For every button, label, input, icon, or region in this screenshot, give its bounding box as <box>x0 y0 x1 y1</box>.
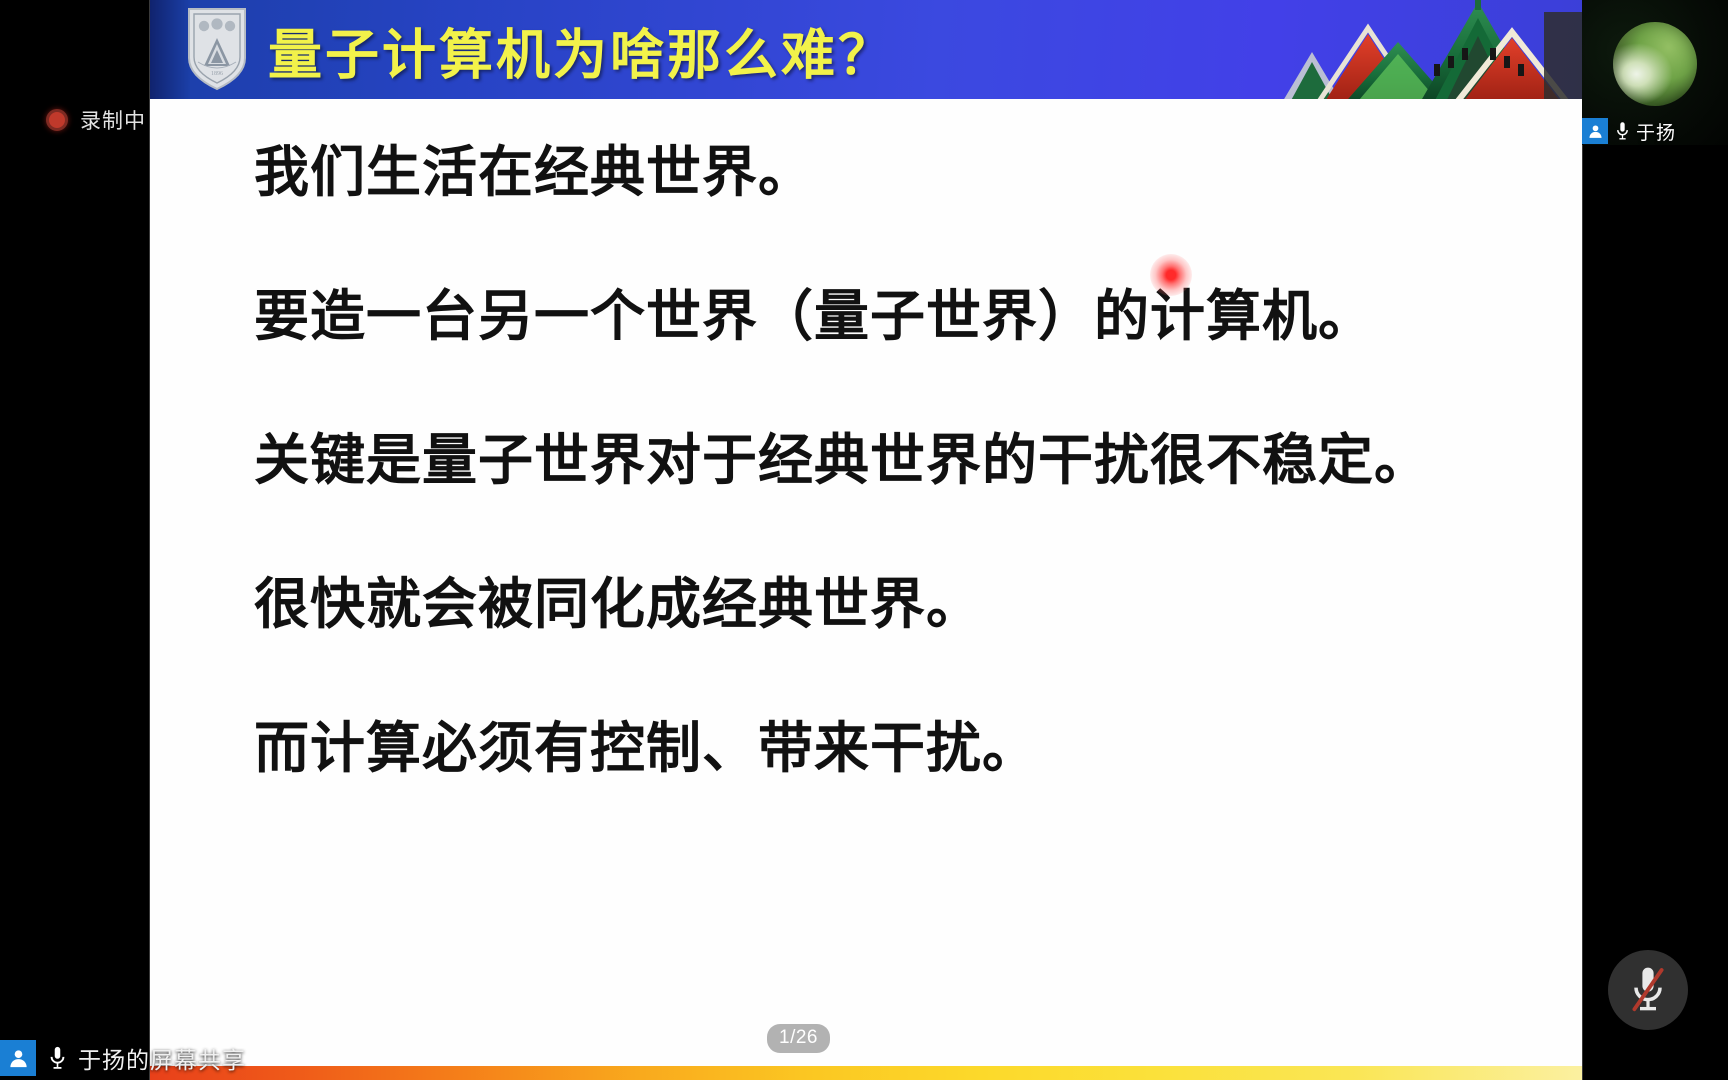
microphone-muted-icon <box>1628 966 1668 1014</box>
slide-text-line-4: 很快就会被同化成经典世界。 <box>254 577 1542 632</box>
page-indicator: 1/26 <box>767 1024 830 1053</box>
slide-title: 量子计算机为啥那么难？ <box>268 10 895 89</box>
slide-text-line-3: 关键是量子世界对于经典世界的干扰很不稳定。 <box>254 433 1542 488</box>
screen-share-status-bar: 于扬的屏幕共享 <box>0 1036 260 1080</box>
microphone-icon <box>44 1045 70 1071</box>
slide-text-line-1: 我们生活在经典世界。 <box>254 145 1542 200</box>
participant-thumbnail-footer: 于扬 <box>1582 117 1676 145</box>
recording-indicator: 录制中 <box>46 105 146 135</box>
participant-icon <box>0 1040 36 1076</box>
chinese-temple-roof-icon <box>1192 0 1582 99</box>
microphone-icon <box>1612 121 1632 141</box>
shared-screen-content[interactable]: 1896 <box>150 0 1582 1080</box>
participant-icon <box>1582 118 1608 144</box>
banner-left-edge <box>150 0 190 99</box>
slide-body: 我们生活在经典世界。 要造一台另一个世界（量子世界）的计算机。 关键是量子世界对… <box>150 99 1582 1080</box>
avatar <box>1613 22 1697 106</box>
slide-footer-gradient-bar <box>150 1066 1582 1080</box>
university-shield-icon: 1896 <box>186 6 248 92</box>
screen-share-label: 于扬的屏幕共享 <box>78 1041 246 1075</box>
recording-label: 录制中 <box>80 105 146 135</box>
slide-text-line-5: 而计算必须有控制、带来干扰。 <box>254 721 1542 776</box>
slide-banner: 1896 <box>150 0 1582 99</box>
participant-name: 于扬 <box>1636 118 1676 145</box>
slide-text-line-2: 要造一台另一个世界（量子世界）的计算机。 <box>254 289 1542 344</box>
svg-text:1896: 1896 <box>211 71 223 77</box>
participant-thumbnail[interactable]: 于扬 <box>1582 0 1728 145</box>
record-dot-icon <box>46 109 68 131</box>
zoom-meeting-window: 录制中 1896 <box>0 0 1728 1080</box>
mute-button[interactable] <box>1608 950 1688 1030</box>
